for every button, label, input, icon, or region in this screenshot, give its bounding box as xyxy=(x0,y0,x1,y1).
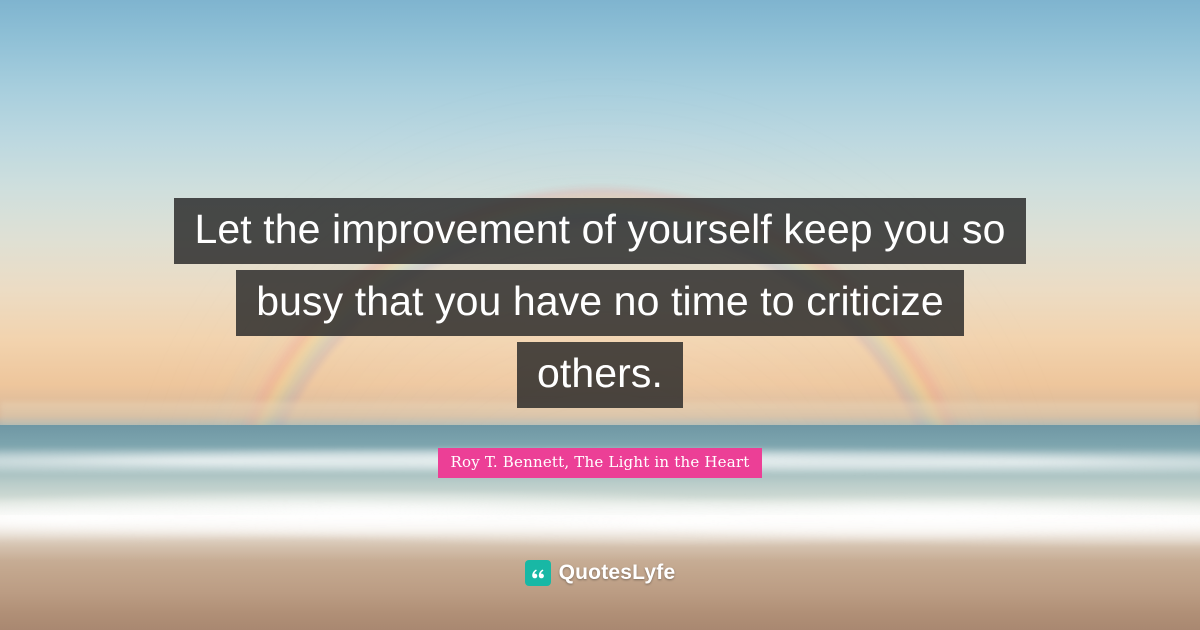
quoteslyfe-logo[interactable]: QuotesLyfe xyxy=(0,560,1200,586)
surf-foam xyxy=(0,492,1200,546)
quote-line: busy that you have no time to criticize xyxy=(236,270,964,336)
quote-text-block: Let the improvement of yourself keep you… xyxy=(0,198,1200,414)
quote-line-1-wrap: Let the improvement of yourself keep you… xyxy=(0,198,1200,270)
quote-line: others. xyxy=(517,342,683,408)
quote-line-2-wrap: busy that you have no time to criticize xyxy=(0,270,1200,342)
quote-line-3-wrap: others. xyxy=(0,342,1200,414)
quotes-mark-icon xyxy=(525,560,551,586)
quote-image: Let the improvement of yourself keep you… xyxy=(0,0,1200,630)
author-attribution: Roy T. Bennett, The Light in the Heart xyxy=(438,448,763,478)
quote-line: Let the improvement of yourself keep you… xyxy=(174,198,1025,264)
author-block: Roy T. Bennett, The Light in the Heart xyxy=(0,448,1200,478)
logo-wordmark: QuotesLyfe xyxy=(559,561,676,585)
